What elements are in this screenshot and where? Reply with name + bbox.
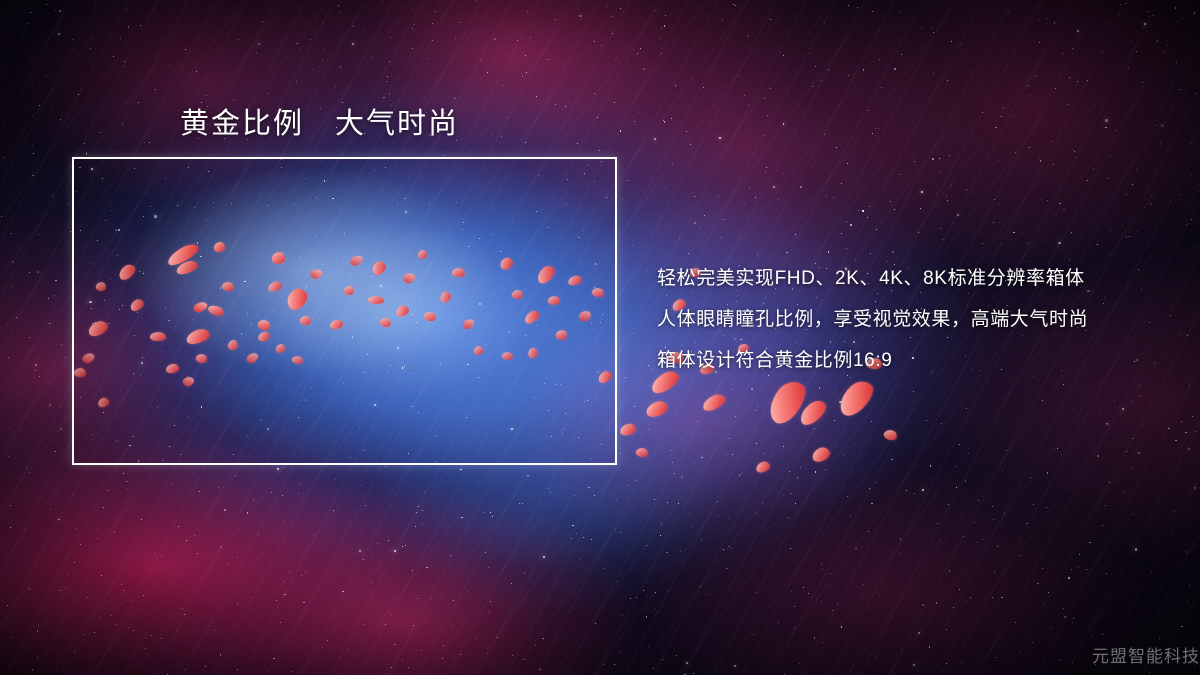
body-line: 箱体设计符合黄金比例16:9 [657,340,1177,381]
petal [755,460,771,473]
image-frame-16-9 [72,157,617,465]
petal [833,375,878,420]
watermark: 元盟智能科技 [1092,642,1200,667]
petal [644,399,669,419]
slide-title: 黄金比例 大气时尚 [180,100,459,142]
body-line: 人体眼睛瞳孔比例，享受视觉效果，高端大气时尚 [657,299,1177,340]
body-copy: 轻松完美实现FHD、2K、4K、8K标准分辨率箱体 人体眼睛瞳孔比例，享受视觉效… [657,258,1177,381]
presentation-slide: 黄金比例 大气时尚 轻松完美实现FHD、2K、4K、8K标准分辨率箱体 人体眼睛… [0,0,1200,675]
petal [762,375,812,428]
petal [635,447,649,459]
petal [700,392,727,414]
petal [796,397,830,429]
petal [883,428,899,442]
body-line: 轻松完美实现FHD、2K、4K、8K标准分辨率箱体 [657,258,1177,299]
petal [810,445,831,463]
petal [619,422,637,436]
